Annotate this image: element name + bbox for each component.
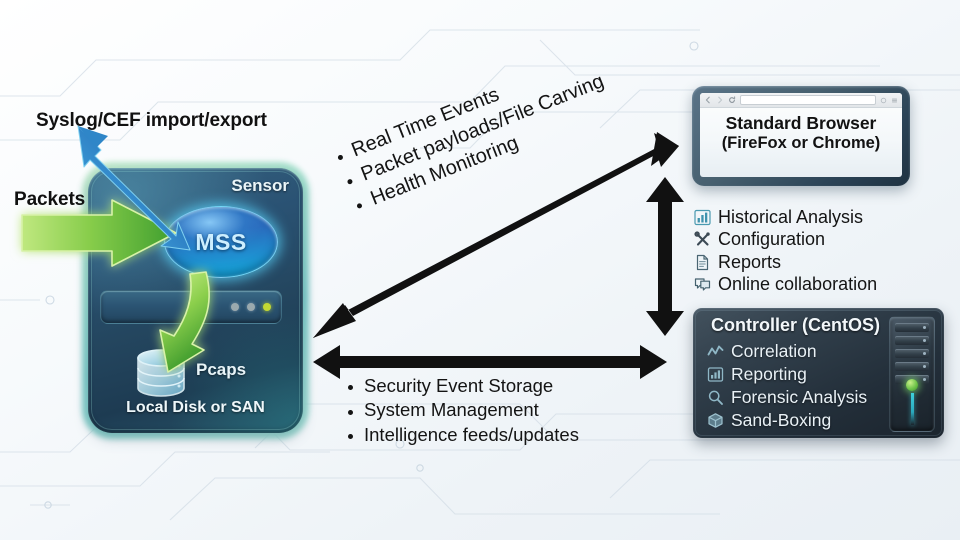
- bar-chart-box-icon: [707, 366, 724, 383]
- pcaps-database-icon: [134, 346, 188, 402]
- feature-label: Historical Analysis: [718, 207, 863, 228]
- menu-icon[interactable]: [891, 97, 898, 104]
- feature-row-reports: Reports: [694, 251, 877, 274]
- sensor-appliance[interactable]: Sensor MSS: [88, 168, 303, 433]
- feature-row-reporting: Reporting: [707, 363, 867, 386]
- mss-label: MSS: [165, 207, 277, 277]
- feature-row-configuration: Configuration: [694, 229, 877, 252]
- feature-label: Forensic Analysis: [731, 387, 867, 408]
- sensor-controller-flow-list: Security Event Storage System Management…: [345, 374, 579, 447]
- feature-row-online-collaboration: Online collaboration: [694, 274, 877, 297]
- bay-led-3: [263, 303, 271, 311]
- controller-title: Controller (CentOS): [711, 315, 880, 336]
- speech-bubbles-icon: [694, 276, 711, 293]
- feature-label: Configuration: [718, 229, 825, 250]
- list-item: Intelligence feeds/updates: [345, 423, 579, 447]
- box-3d-icon: [707, 412, 724, 429]
- controller-feature-list: Correlation Reporting Forensic Analysis: [707, 340, 867, 432]
- magnifier-icon: [707, 389, 724, 406]
- list-item: System Management: [345, 398, 579, 422]
- feature-label: Reports: [718, 252, 781, 273]
- back-icon[interactable]: [704, 96, 712, 104]
- feature-row-historical-analysis: Historical Analysis: [694, 206, 877, 229]
- feature-label: Online collaboration: [718, 274, 877, 295]
- feature-label: Sand-Boxing: [731, 410, 831, 431]
- mss-node[interactable]: MSS: [164, 206, 278, 278]
- bay-led-1: [231, 303, 239, 311]
- feature-row-correlation: Correlation: [707, 340, 867, 363]
- reload-icon[interactable]: [728, 96, 736, 104]
- document-icon: [694, 254, 711, 271]
- server-tower-graphic: [889, 316, 935, 432]
- browser-toolbar[interactable]: [700, 93, 902, 108]
- feature-label: Reporting: [731, 364, 807, 385]
- sensor-title: Sensor: [231, 176, 289, 196]
- local-disk-caption: Local Disk or SAN: [88, 399, 303, 417]
- line-chart-icon: [707, 343, 724, 360]
- browser-caption-line2: (FireFox or Chrome): [700, 134, 902, 153]
- server-status-led: [906, 379, 918, 391]
- bar-chart-icon: [694, 209, 711, 226]
- diagram-canvas: Sensor MSS: [0, 0, 960, 540]
- bookmark-icon[interactable]: [880, 97, 887, 104]
- tools-icon: [694, 231, 711, 248]
- list-item: Security Event Storage: [345, 374, 579, 398]
- sensor-drive-bay: [100, 290, 282, 324]
- server-bay: [895, 323, 929, 332]
- controller-device[interactable]: Controller (CentOS) Correlation Reportin…: [693, 308, 944, 438]
- packets-label: Packets: [14, 189, 85, 211]
- browser-screen: Standard Browser (FireFox or Chrome): [700, 93, 902, 177]
- browser-caption-line1: Standard Browser: [700, 113, 902, 134]
- server-activity-line: [911, 393, 914, 425]
- feature-row-sand-boxing: Sand-Boxing: [707, 409, 867, 432]
- server-bay: [895, 336, 929, 345]
- server-bay: [895, 349, 929, 358]
- forward-icon[interactable]: [716, 96, 724, 104]
- pcaps-label: Pcaps: [196, 360, 246, 380]
- sensor-body: Sensor MSS: [88, 168, 303, 433]
- syslog-cef-label: Syslog/CEF import/export: [36, 110, 267, 132]
- bay-led-2: [247, 303, 255, 311]
- feature-label: Correlation: [731, 341, 817, 362]
- browser-feature-list: Historical Analysis Configuration Report…: [694, 206, 877, 296]
- standard-browser-device[interactable]: Standard Browser (FireFox or Chrome): [692, 86, 910, 186]
- server-bay: [895, 362, 929, 371]
- feature-row-forensic-analysis: Forensic Analysis: [707, 386, 867, 409]
- browser-caption: Standard Browser (FireFox or Chrome): [700, 113, 902, 153]
- browser-url-bar[interactable]: [740, 95, 876, 105]
